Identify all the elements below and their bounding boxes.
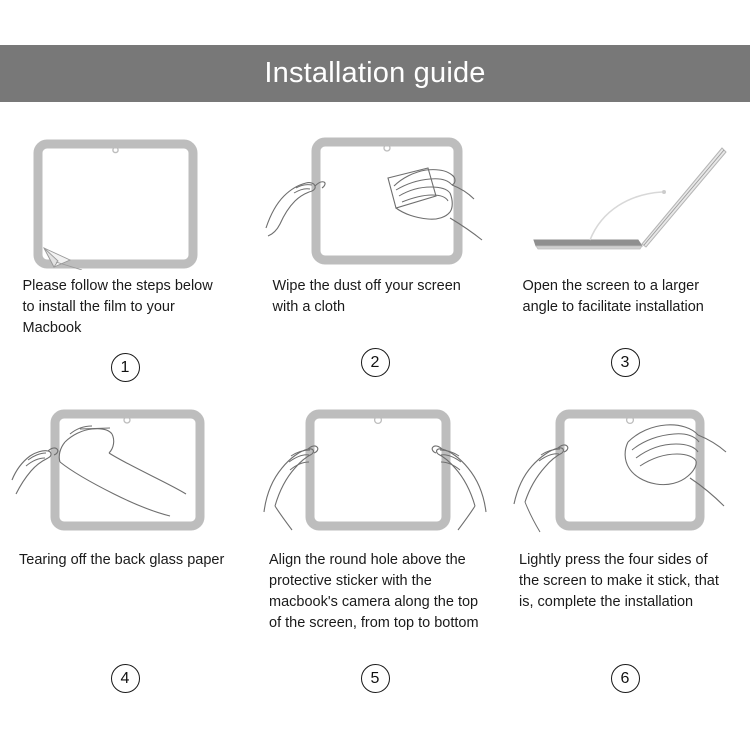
step-card-5: Align the round hole above the protectiv… — [250, 404, 500, 693]
step-number-badge-3: 3 — [611, 348, 640, 377]
step-4-caption-block: Tearing off the back glass paper — [0, 544, 250, 654]
step-3-caption-block: Open the screen to a larger angle to fac… — [500, 270, 750, 334]
step-card-2: Wipe the dust off your screen with a clo… — [250, 130, 500, 382]
step-2-caption-block: Wipe the dust off your screen with a clo… — [250, 270, 500, 334]
step-6-caption: Lightly press the four sides of the scre… — [519, 550, 731, 654]
step-number-badge-5: 5 — [361, 664, 390, 693]
step-4-illustration — [10, 404, 240, 544]
steps-grid: Please follow the steps below to install… — [0, 130, 750, 693]
step-1-caption: Please follow the steps below to install… — [23, 276, 228, 339]
step-6-caption-block: Lightly press the four sides of the scre… — [500, 544, 750, 654]
step-6-number-wrap: 6 — [500, 664, 750, 693]
step-number-badge-6: 6 — [611, 664, 640, 693]
step-card-6: Lightly press the four sides of the scre… — [500, 404, 750, 693]
step-3-caption: Open the screen to a larger angle to fac… — [523, 276, 728, 334]
step-2-illustration — [260, 130, 490, 270]
step-card-3: Open the screen to a larger angle to fac… — [500, 130, 750, 382]
header-banner: Installation guide — [0, 45, 750, 102]
step-2-number-wrap: 2 — [250, 348, 500, 377]
step-number-badge-1: 1 — [111, 353, 140, 382]
step-5-number-wrap: 5 — [250, 664, 500, 693]
installation-guide-page: Installation guide — [0, 0, 750, 750]
step-2-caption: Wipe the dust off your screen with a clo… — [273, 276, 478, 334]
step-5-caption-block: Align the round hole above the protectiv… — [250, 544, 500, 654]
step-4-number-wrap: 4 — [0, 664, 250, 693]
step-5-illustration — [260, 404, 490, 544]
step-number-badge-2: 2 — [361, 348, 390, 377]
step-6-illustration — [510, 404, 740, 544]
step-5-caption: Align the round hole above the protectiv… — [269, 550, 481, 654]
page-title: Installation guide — [264, 57, 485, 90]
step-1-illustration — [10, 130, 240, 270]
step-card-1: Please follow the steps below to install… — [0, 130, 250, 382]
step-3-illustration — [510, 130, 740, 270]
step-3-number-wrap: 3 — [500, 348, 750, 377]
step-1-caption-block: Please follow the steps below to install… — [0, 270, 250, 339]
steps-row-2: Tearing off the back glass paper 4 — [0, 404, 750, 693]
step-card-4: Tearing off the back glass paper 4 — [0, 404, 250, 693]
step-number-badge-4: 4 — [111, 664, 140, 693]
step-1-number-wrap: 1 — [0, 353, 250, 382]
steps-row-1: Please follow the steps below to install… — [0, 130, 750, 382]
step-4-caption: Tearing off the back glass paper — [19, 550, 231, 654]
